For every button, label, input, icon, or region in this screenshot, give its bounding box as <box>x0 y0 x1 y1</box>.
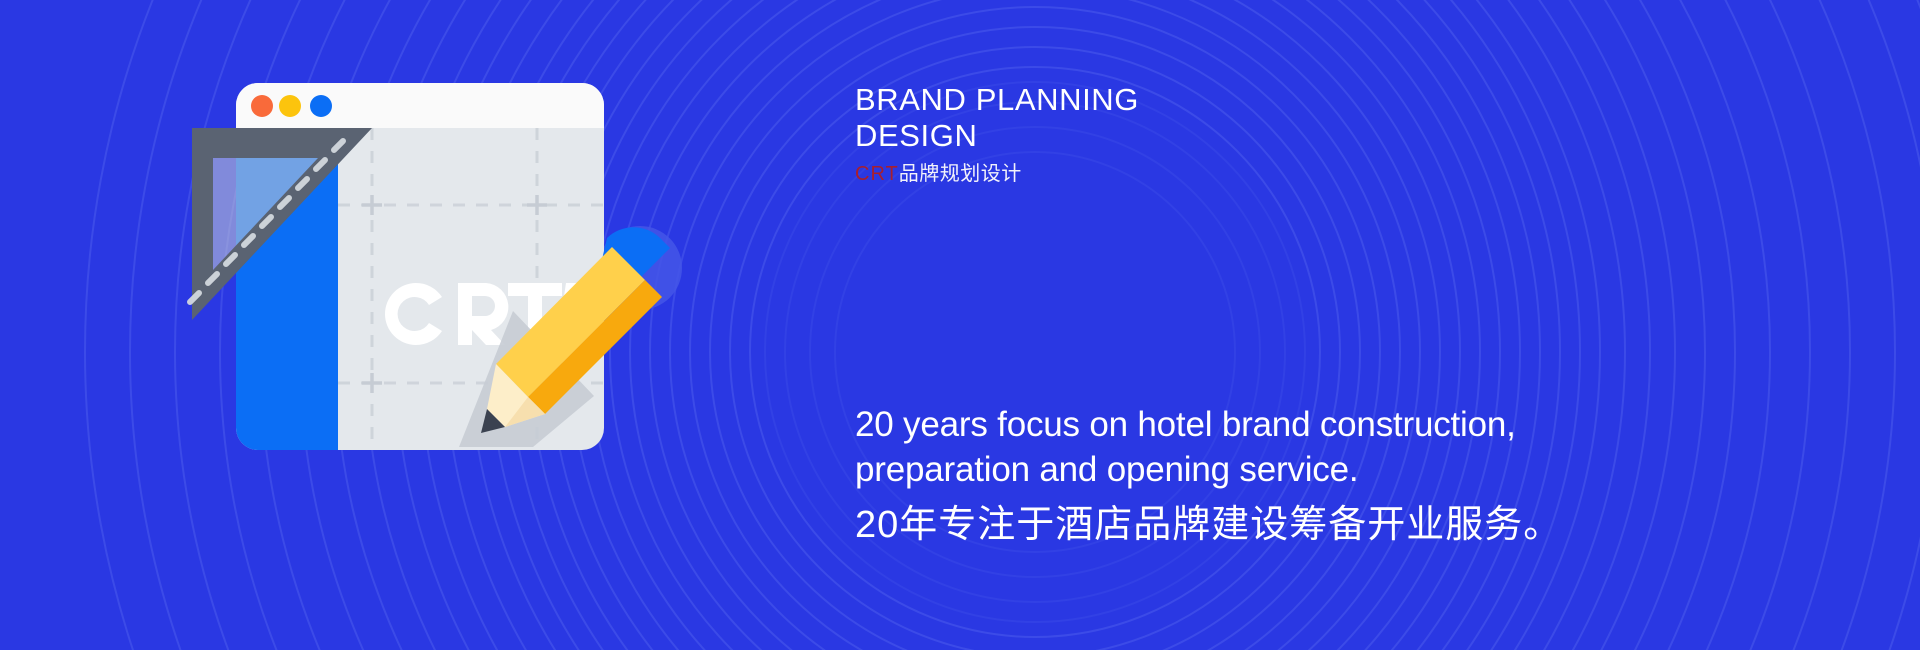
headline-block: BRAND PLANNING DESIGN CRT品牌规划设计 <box>855 82 1139 186</box>
brand-subtitle-chinese: 品牌规划设计 <box>899 163 1022 185</box>
page-title: BRAND PLANNING DESIGN <box>855 82 1139 154</box>
banner-copy-column: BRAND PLANNING DESIGN CRT品牌规划设计 20 years… <box>855 0 1895 650</box>
window-dot-blue <box>310 95 332 117</box>
brand-design-illustration <box>0 0 900 650</box>
window-dot-yellow <box>279 95 301 117</box>
brand-mark-crt: CRT <box>855 163 899 185</box>
window-dot-red <box>251 95 273 117</box>
tagline-chinese: 20年专注于酒店品牌建设筹备开业服务。 <box>855 503 1562 549</box>
tagline-block: 20 years focus on hotel brand constructi… <box>855 403 1562 548</box>
brand-banner: BRAND PLANNING DESIGN CRT品牌规划设计 20 years… <box>0 0 1920 650</box>
brand-subtitle: CRT品牌规划设计 <box>855 162 1139 186</box>
tagline-english: 20 years focus on hotel brand constructi… <box>855 403 1562 493</box>
